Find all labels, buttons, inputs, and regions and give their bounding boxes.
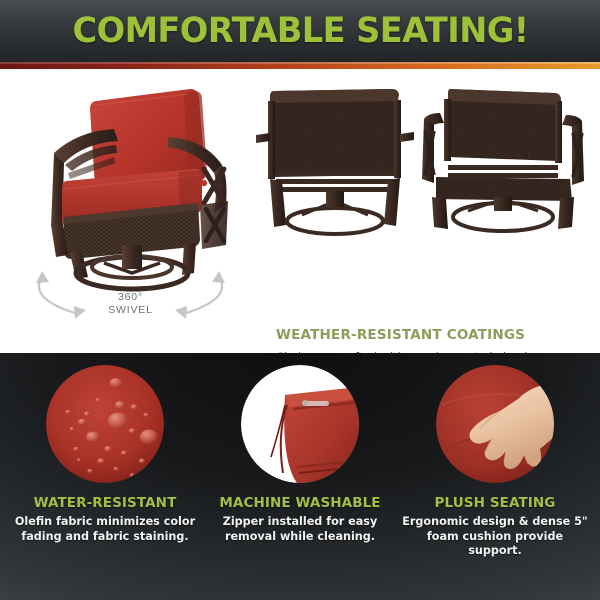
feature-body: Ergonomic design & dense 5" foam cushion… — [400, 515, 590, 559]
zipper-cushion-image — [241, 365, 359, 483]
feature-body: Zipper installed for easy removal while … — [205, 515, 395, 544]
feature-plush-seating: PLUSH SEATING Ergonomic design & dense 5… — [400, 365, 590, 559]
accent-divider-highlight — [0, 62, 600, 64]
product-overview-section: 360° SWIVEL — [0, 69, 600, 353]
swivel-word: SWIVEL — [18, 304, 243, 317]
feature-title: WATER-RESISTANT — [10, 495, 200, 511]
water-droplets-image — [46, 365, 164, 483]
page-title: COMFORTABLE SEATING! — [72, 11, 528, 51]
feature-water-resistant: WATER-RESISTANT Olefin fabric minimizes … — [10, 365, 200, 544]
features-section: WATER-RESISTANT Olefin fabric minimizes … — [0, 353, 600, 600]
hand-on-cushion-image — [436, 365, 554, 483]
coatings-title: WEATHER-RESISTANT COATINGS — [276, 327, 588, 343]
hero-chair-image — [18, 77, 243, 292]
swivel-label: 360° SWIVEL — [18, 291, 243, 317]
header-banner: COMFORTABLE SEATING! — [0, 0, 600, 62]
swivel-degrees: 360° — [18, 291, 243, 304]
feature-title: PLUSH SEATING — [400, 495, 590, 511]
feature-body: Olefin fabric minimizes color fading and… — [10, 515, 200, 544]
secondary-chair-images — [252, 79, 592, 244]
chair-front-view — [422, 89, 584, 231]
infographic-page: COMFORTABLE SEATING! — [0, 0, 600, 600]
features-list: WATER-RESISTANT Olefin fabric minimizes … — [0, 353, 600, 600]
feature-machine-washable: MACHINE WASHABLE Zipper installed for ea… — [205, 365, 395, 544]
feature-title: MACHINE WASHABLE — [205, 495, 395, 511]
chair-rear-view — [256, 89, 414, 234]
